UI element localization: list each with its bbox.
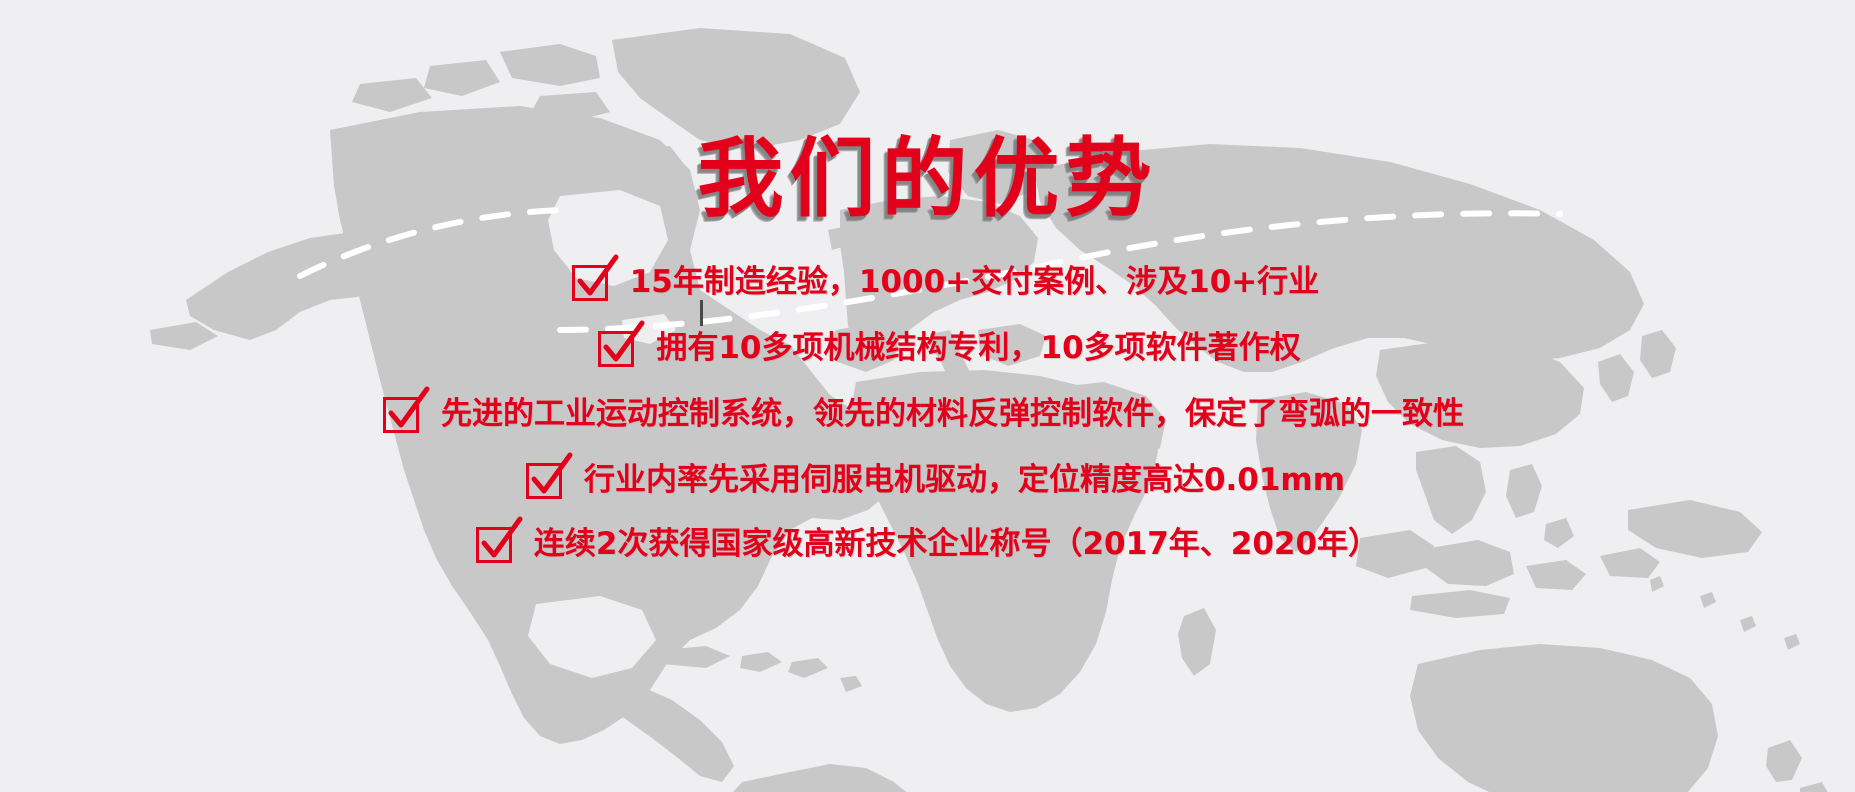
check-mark-icon [598, 323, 644, 369]
checkbox-checked-icon [383, 397, 419, 433]
list-item-label: 连续2次获得国家级高新技术企业称号（2017年、2020年） [534, 527, 1379, 563]
checkbox-checked-icon [526, 463, 562, 499]
list-item-label: 先进的工业运动控制系统，领先的材料反弹控制软件，保定了弯弧的一致性 [441, 397, 1464, 433]
check-mark-icon [526, 455, 572, 501]
list-item: 拥有10多项机械结构专利，10多项软件著作权 [0, 331, 1855, 367]
check-mark-icon [383, 389, 429, 435]
list-item: 15年制造经验，1000+交付案例、涉及10+行业 [0, 265, 1855, 301]
advantages-list: 15年制造经验，1000+交付案例、涉及10+行业 拥有10多项机械结构专利，1… [0, 265, 1855, 589]
checkbox-checked-icon [572, 265, 608, 301]
page-title: 我们的优势 [0, 136, 1855, 222]
banner-content: 我们的优势 15年制造经验，1000+交付案例、涉及10+行业 [0, 0, 1855, 792]
list-item-label: 15年制造经验，1000+交付案例、涉及10+行业 [630, 265, 1320, 301]
advantages-banner: 我们的优势 15年制造经验，1000+交付案例、涉及10+行业 [0, 0, 1855, 792]
check-mark-icon [476, 519, 522, 565]
checkbox-checked-icon [598, 331, 634, 367]
list-item-label: 行业内率先采用伺服电机驱动，定位精度高达0.01mm [584, 463, 1345, 499]
list-item: 先进的工业运动控制系统，领先的材料反弹控制软件，保定了弯弧的一致性 [0, 397, 1855, 433]
list-item: 行业内率先采用伺服电机驱动，定位精度高达0.01mm [0, 463, 1855, 499]
list-item-label: 拥有10多项机械结构专利，10多项软件著作权 [656, 331, 1300, 367]
list-item: 连续2次获得国家级高新技术企业称号（2017年、2020年） [0, 527, 1855, 563]
check-mark-icon [572, 257, 618, 303]
checkbox-checked-icon [476, 527, 512, 563]
